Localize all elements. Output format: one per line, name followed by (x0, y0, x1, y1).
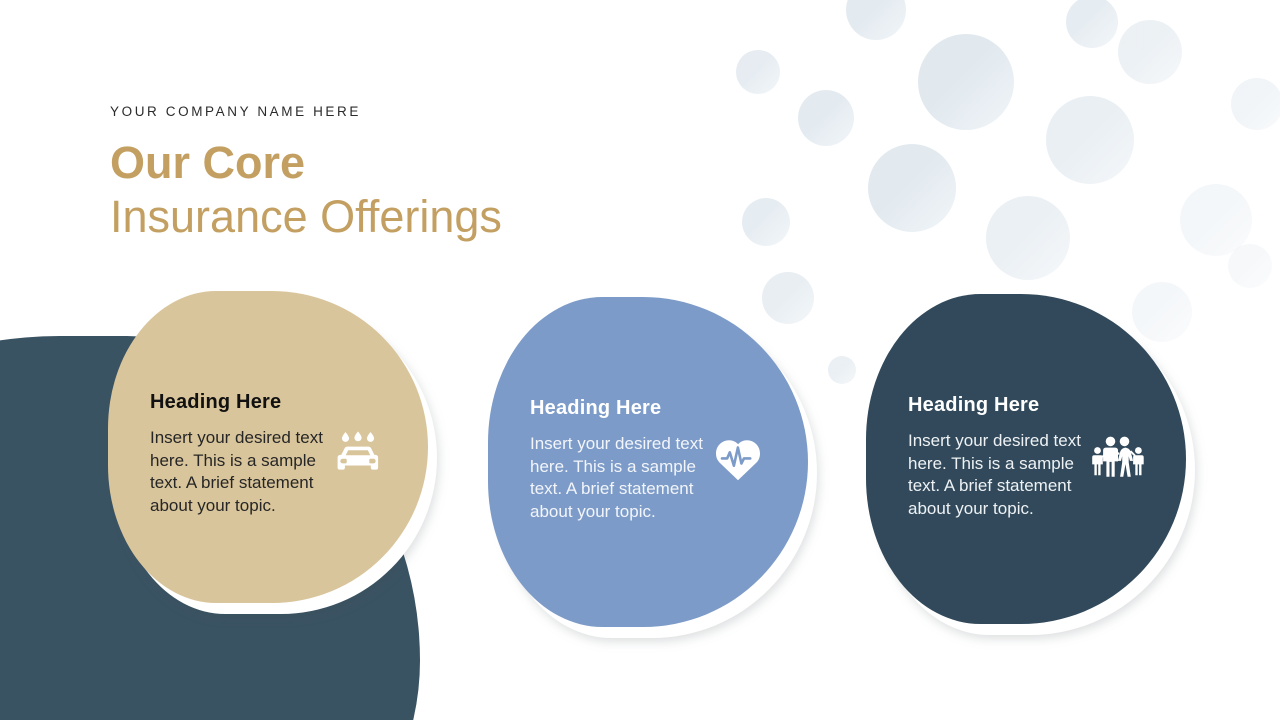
decorative-dot (846, 0, 906, 40)
page-title-line-2: Insurance Offerings (110, 189, 502, 245)
card-body-text: Insert your desired text here. This is a… (908, 430, 1108, 520)
decorative-dot (1118, 20, 1182, 84)
decorative-dot (1231, 78, 1280, 130)
decorative-dot (1046, 96, 1134, 184)
card-body-text: Insert your desired text here. This is a… (150, 427, 350, 517)
decorative-dot (986, 196, 1070, 280)
card-content: Heading Here Insert your desired text he… (488, 297, 808, 627)
slide-header: YOUR COMPANY NAME HERE Our Core Insuranc… (110, 104, 502, 245)
company-name-eyebrow: YOUR COMPANY NAME HERE (110, 104, 502, 119)
car-wash-icon (334, 431, 382, 477)
decorative-dot (868, 144, 956, 232)
offering-card-health[interactable]: Heading Here Insert your desired text he… (488, 297, 808, 627)
slide-canvas: YOUR COMPANY NAME HERE Our Core Insuranc… (0, 0, 1280, 720)
family-icon (1090, 434, 1146, 478)
decorative-dot (1180, 184, 1252, 256)
decorative-dot (918, 34, 1014, 130)
heart-pulse-icon (714, 437, 762, 481)
card-content: Heading Here Insert your desired text he… (108, 291, 428, 603)
card-content: Heading Here Insert your desired text he… (866, 294, 1186, 624)
decorative-dot (1066, 0, 1118, 48)
card-heading: Heading Here (530, 397, 661, 420)
card-heading: Heading Here (150, 391, 281, 414)
decorative-dot (742, 198, 790, 246)
decorative-dot (736, 50, 780, 94)
decorative-dot (828, 356, 856, 384)
page-title-line-1: Our Core (110, 137, 502, 189)
decorative-dot (798, 90, 854, 146)
decorative-dot (1228, 244, 1272, 288)
offering-card-family[interactable]: Heading Here Insert your desired text he… (866, 294, 1186, 624)
card-body-text: Insert your desired text here. This is a… (530, 433, 730, 523)
card-heading: Heading Here (908, 394, 1039, 417)
offering-card-auto[interactable]: Heading Here Insert your desired text he… (108, 291, 428, 603)
